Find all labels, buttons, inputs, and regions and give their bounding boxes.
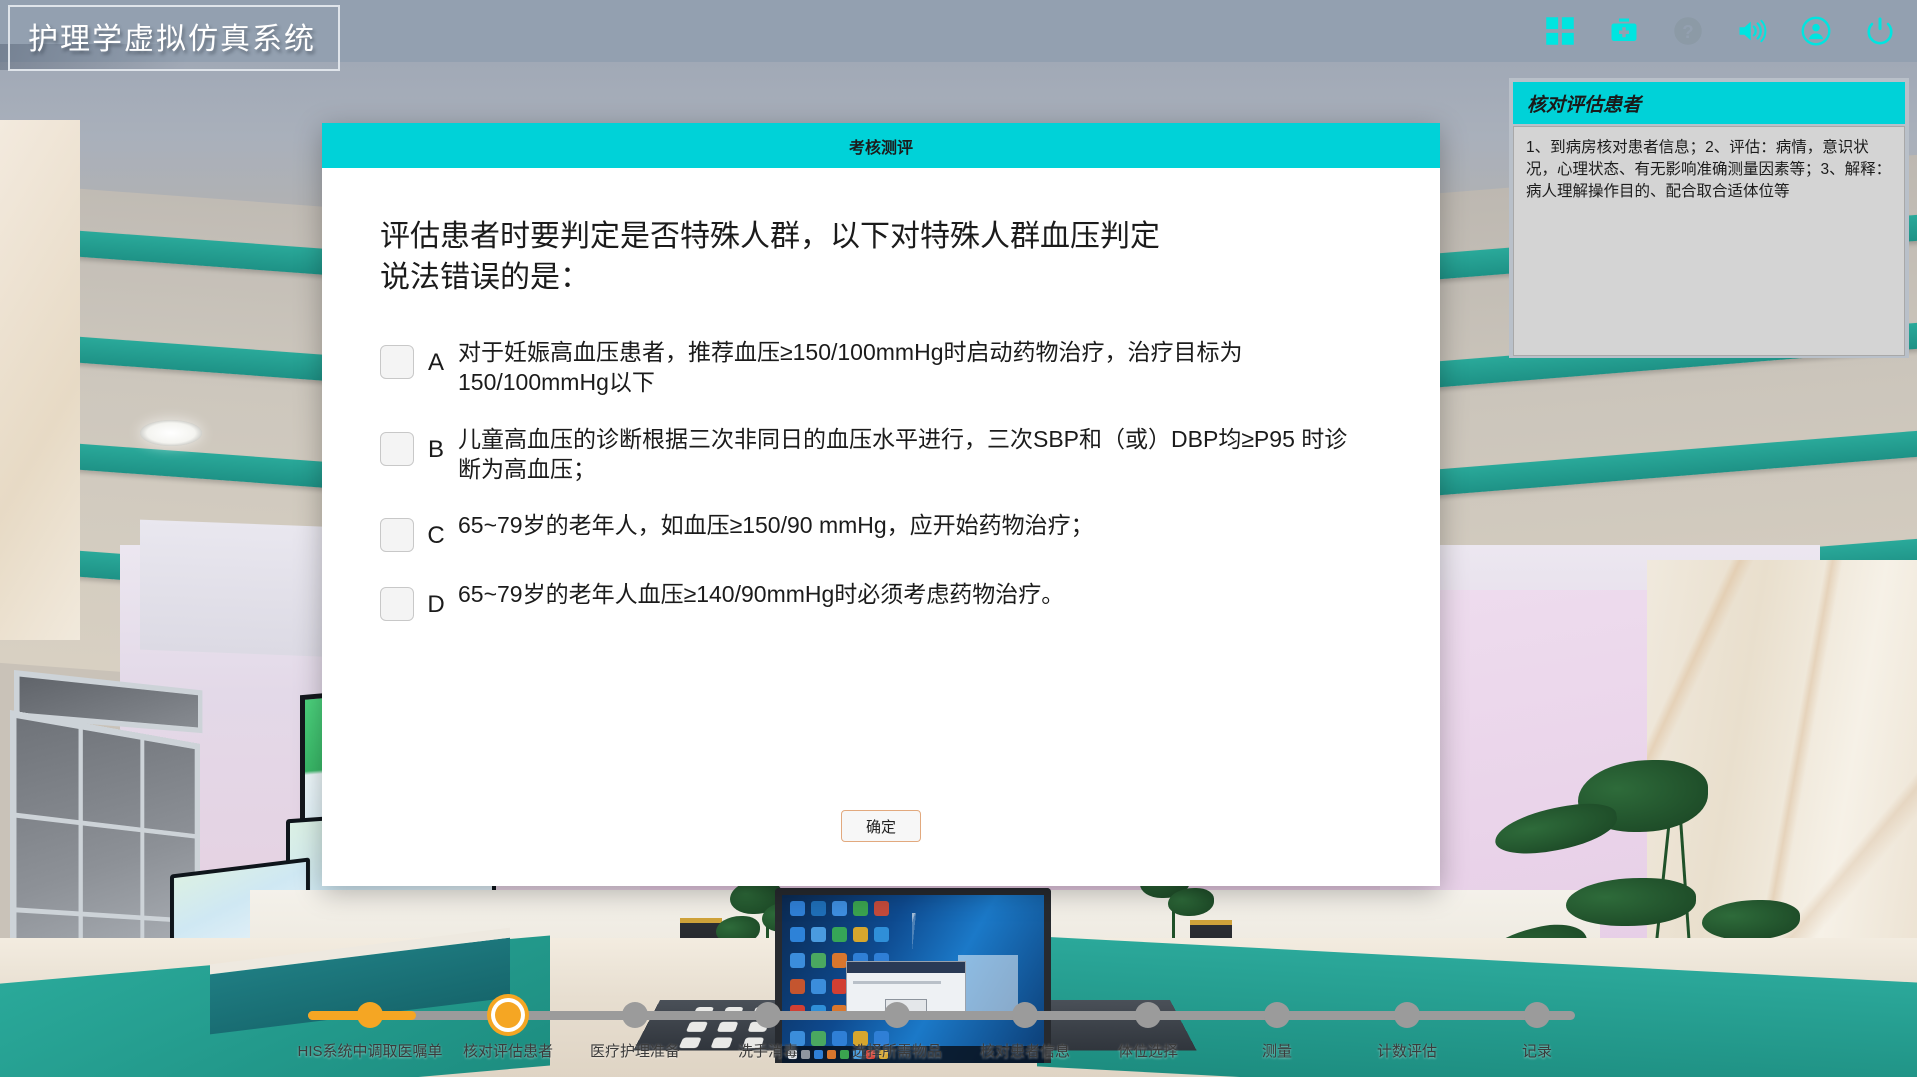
marble-pillar-left [0,120,80,640]
option-a-checkbox[interactable] [380,345,414,379]
quiz-option-b[interactable]: B 儿童高血压的诊断根据三次非同日的血压水平进行，三次SBP和（或）DBP均≥P… [380,424,1382,485]
stepper-dot[interactable] [755,1002,781,1028]
option-c-letter: C [414,510,458,552]
quiz-option-a[interactable]: A 对于妊娠高血压患者，推荐血压≥150/100mmHg时启动药物治疗，治疗目标… [380,337,1382,398]
quiz-dialog-title: 考核测评 [322,123,1440,168]
option-b-checkbox[interactable] [380,432,414,466]
quiz-dialog-body: 评估患者时要判定是否特殊人群，以下对特殊人群血压判定说法错误的是： A 对于妊娠… [322,168,1440,621]
page-title: 护理学虚拟仿真系统 [8,5,340,71]
top-icon-bar: ? [1545,0,1895,62]
top-bar: 护理学虚拟仿真系统 ? [0,0,1917,62]
stepper-label: 体位选择 [1118,1040,1178,1061]
stepper-dot[interactable] [357,1002,383,1028]
volume-icon[interactable] [1737,16,1767,46]
power-icon[interactable] [1865,16,1895,46]
stepper-label: 医疗护理准备 [590,1040,680,1061]
task-info-title: 核对评估患者 [1513,82,1905,124]
grid-icon[interactable] [1545,16,1575,46]
stepper-label: HIS系统中调取医嘱单 [297,1040,442,1061]
stepper-dot[interactable] [884,1002,910,1028]
stepper-label: 核对评估患者 [463,1040,553,1061]
stepper-label: 洗手消毒 [738,1040,798,1061]
app-root: 护理学虚拟仿真系统 ? 核对评估患者 1、到病房核对患者信息；2、评 [0,0,1917,1077]
option-a-letter: A [414,337,458,379]
stepper-label: 测量 [1262,1040,1292,1061]
option-d-checkbox[interactable] [380,587,414,621]
option-b-text: 儿童高血压的诊断根据三次非同日的血压水平进行，三次SBP和（或）DBP均≥P95… [458,424,1358,485]
confirm-button[interactable]: 确定 [841,810,921,842]
workflow-stepper: HIS系统中调取医嘱单核对评估患者医疗护理准备洗手消毒选择所需物品核对患者信息体… [0,982,1917,1077]
stepper-step-10[interactable]: 记录 [1462,982,1612,1061]
option-c-checkbox[interactable] [380,518,414,552]
task-info-body: 1、到病房核对患者信息；2、评估：病情，意识状况，心理状态、有无影响准确测量因素… [1513,126,1905,356]
option-a-text: 对于妊娠高血压患者，推荐血压≥150/100mmHg时启动药物治疗，治疗目标为 … [458,337,1358,398]
option-b-letter: B [414,424,458,466]
stepper-dot[interactable] [1394,1002,1420,1028]
stepper-step-3[interactable]: 医疗护理准备 [560,982,710,1061]
quiz-option-d[interactable]: D 65~79岁的老年人血压≥140/90mmHg时必须考虑药物治疗。 [380,579,1382,621]
quiz-option-c[interactable]: C 65~79岁的老年人，如血压≥150/90 mmHg，应开始药物治疗； [380,510,1382,552]
ceiling-light [140,420,202,446]
stepper-dot[interactable] [1135,1002,1161,1028]
stepper-label: 选择所需物品 [852,1040,942,1061]
stepper-step-8[interactable]: 测量 [1202,982,1352,1061]
stepper-dot[interactable] [1524,1002,1550,1028]
quiz-dialog-footer: 确定 [322,810,1440,842]
stepper-step-9[interactable]: 计数评估 [1332,982,1482,1061]
option-c-text: 65~79岁的老年人，如血压≥150/90 mmHg，应开始药物治疗； [458,510,1094,540]
task-info-panel: 核对评估患者 1、到病房核对患者信息；2、评估：病情，意识状况，心理状态、有无影… [1509,78,1909,358]
stepper-step-4[interactable]: 洗手消毒 [693,982,843,1061]
stepper-dot[interactable] [1264,1002,1290,1028]
quiz-options-list: A 对于妊娠高血压患者，推荐血压≥150/100mmHg时启动药物治疗，治疗目标… [380,337,1382,621]
quiz-dialog: 考核测评 评估患者时要判定是否特殊人群，以下对特殊人群血压判定说法错误的是： A… [322,123,1440,886]
stepper-dot[interactable] [495,1002,521,1028]
stepper-label: 记录 [1522,1040,1552,1061]
svg-text:?: ? [1682,21,1693,42]
stepper-label: 核对患者信息 [980,1040,1070,1061]
option-d-letter: D [414,579,458,621]
stepper-step-1[interactable]: HIS系统中调取医嘱单 [295,982,445,1061]
quiz-question: 评估患者时要判定是否特殊人群，以下对特殊人群血压判定说法错误的是： [380,216,1170,299]
medkit-icon[interactable] [1609,16,1639,46]
help-icon[interactable]: ? [1673,16,1703,46]
stepper-dot[interactable] [1012,1002,1038,1028]
stepper-step-7[interactable]: 体位选择 [1073,982,1223,1061]
user-icon[interactable] [1801,16,1831,46]
stepper-label: 计数评估 [1377,1040,1437,1061]
stepper-dot[interactable] [622,1002,648,1028]
option-d-text: 65~79岁的老年人血压≥140/90mmHg时必须考虑药物治疗。 [458,579,1064,609]
